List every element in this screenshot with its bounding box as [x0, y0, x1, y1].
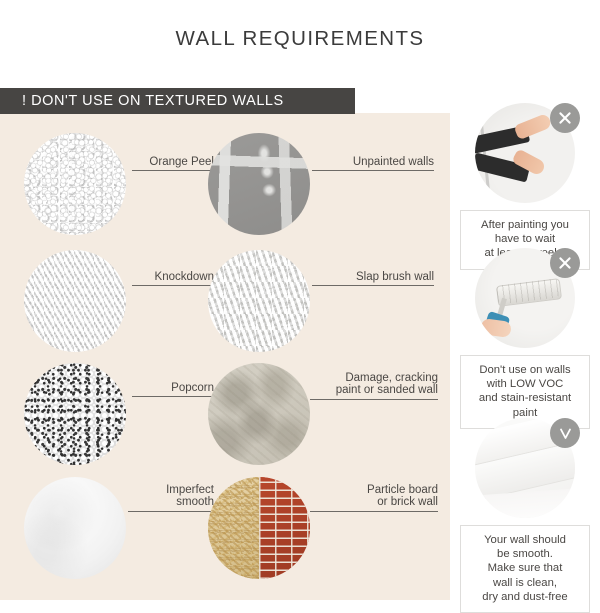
label-underline	[310, 399, 438, 400]
imperfect-smooth-texture-swatch	[24, 477, 126, 579]
orange-peel-texture-swatch	[24, 133, 126, 235]
sample-knockdown: Knockdown	[24, 250, 224, 352]
label-underline	[132, 170, 214, 171]
page-title: WALL REQUIREMENTS	[0, 27, 600, 51]
infographic-page: WALL REQUIREMENTS ! DON'T USE ON TEXTURE…	[0, 0, 600, 600]
check-icon	[550, 418, 580, 448]
sample-label-imperfect-smooth: Imperfect smooth	[128, 471, 214, 524]
cross-icon	[550, 248, 580, 278]
slap-brush-texture-swatch	[208, 250, 310, 352]
label-underline	[128, 511, 214, 512]
label-underline	[312, 285, 434, 286]
sample-imperfect-smooth: Imperfect smooth	[24, 477, 224, 579]
popcorn-texture-swatch	[24, 363, 126, 465]
sample-orange-peel: Orange Peel	[24, 133, 224, 235]
sample-label-damaged-wall: Damage, cracking paint or sanded wall	[310, 359, 438, 412]
sample-label-unpainted-walls: Unpainted walls	[312, 143, 434, 184]
cross-icon	[550, 103, 580, 133]
tip-photo-wrapper	[460, 248, 590, 348]
tip-card-wait-4-weeks: After painting you have to wait at least…	[460, 103, 590, 270]
tip-photo-wrapper	[460, 103, 590, 203]
tip-card-low-voc: Don't use on walls with LOW VOC and stai…	[460, 248, 590, 429]
sample-label-knockdown: Knockdown	[132, 258, 214, 299]
damaged-wall-texture-swatch	[208, 363, 310, 465]
sample-label-popcorn: Popcorn	[132, 369, 214, 410]
dont-use-banner: ! DON'T USE ON TEXTURED WALLS	[0, 88, 355, 114]
label-underline	[312, 170, 434, 171]
sample-label-slap-brush-wall: Slap brush wall	[312, 258, 434, 299]
sample-label-particle-board-brick: Particle board or brick wall	[310, 471, 438, 524]
dont-use-banner-label: ! DON'T USE ON TEXTURED WALLS	[0, 93, 284, 109]
hand-upper	[514, 113, 553, 140]
sample-label-orange-peel: Orange Peel	[132, 143, 214, 184]
tip-photo-wrapper	[460, 418, 590, 518]
knockdown-texture-swatch	[24, 250, 126, 352]
sample-particle-board-brick: Particle board or brick wall	[208, 477, 438, 579]
sample-slap-brush-wall: Slap brush wall	[208, 250, 438, 352]
label-underline	[132, 285, 214, 286]
tip-card-smooth-wall: Your wall should be smooth. Make sure th…	[460, 418, 590, 613]
unpainted-walls-texture-swatch	[208, 133, 310, 235]
sample-popcorn: Popcorn	[24, 363, 224, 465]
label-underline	[132, 396, 214, 397]
sample-unpainted-walls: Unpainted walls	[208, 133, 438, 235]
sample-damaged-wall: Damage, cracking paint or sanded wall	[208, 363, 438, 465]
particle-board-brick-texture-swatch	[208, 477, 310, 579]
label-underline	[310, 511, 438, 512]
